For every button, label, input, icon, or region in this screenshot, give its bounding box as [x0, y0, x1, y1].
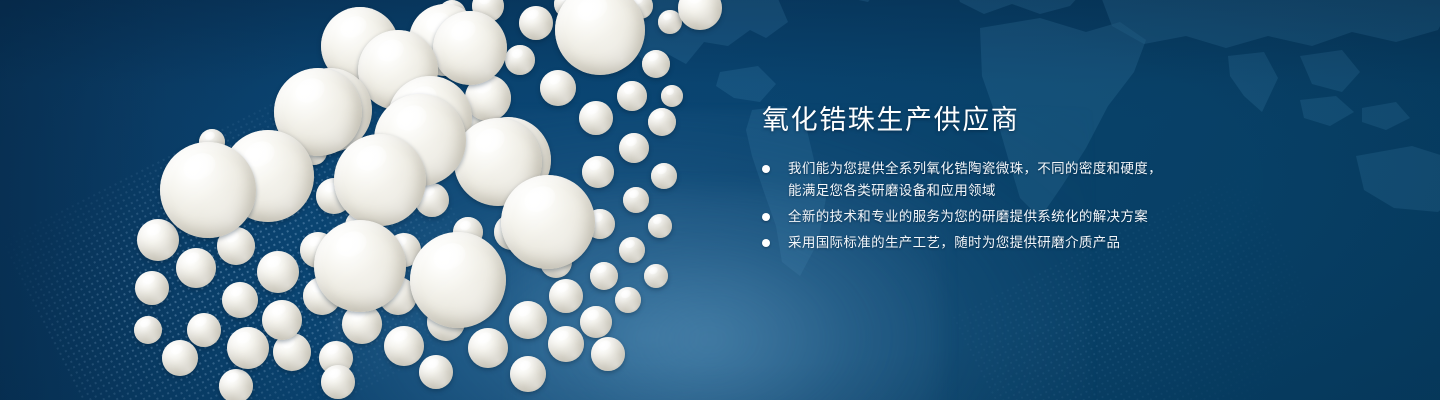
list-item: 全新的技术和专业的服务为您的研磨提供系统化的解决方案	[762, 206, 1282, 228]
ceramic-bead	[617, 81, 647, 111]
list-item: 采用国际标准的生产工艺，随时为您提供研磨介质产品	[762, 232, 1282, 254]
ceramic-bead	[619, 133, 649, 163]
ceramic-bead	[642, 50, 670, 78]
ceramic-bead	[510, 356, 546, 392]
ceramic-bead	[651, 163, 677, 189]
ceramic-bead	[501, 175, 595, 269]
ceramic-bead	[137, 219, 179, 261]
ceramic-bead	[619, 237, 645, 263]
bullet-text-line-1: 全新的技术和专业的服务为您的研磨提供系统化的解决方案	[788, 209, 1148, 224]
ceramic-bead	[678, 0, 722, 30]
product-banner: 氧化锆珠生产供应商 我们能为您提供全系列氧化锆陶瓷微珠，不同的密度和硬度， 能满…	[0, 0, 1440, 400]
ceramic-bead	[134, 316, 162, 344]
ceramic-bead	[162, 340, 198, 376]
ceramic-bead	[257, 251, 299, 293]
ceramic-bead	[419, 355, 453, 389]
ceramic-bead	[579, 101, 613, 135]
ceramic-bead	[582, 156, 614, 188]
ceramic-bead	[334, 134, 426, 226]
ceramic-bead	[540, 70, 576, 106]
ceramic-bead	[176, 248, 216, 288]
ceramic-bead	[410, 232, 506, 328]
bullet-text-line-2: 能满足您各类研磨设备和应用领域	[788, 180, 1282, 202]
bullet-text-line-1: 我们能为您提供全系列氧化锆陶瓷微珠，不同的密度和硬度，	[788, 161, 1162, 176]
ceramic-bead	[384, 326, 424, 366]
bullet-dot-icon	[762, 213, 770, 221]
ceramic-bead	[590, 262, 618, 290]
ceramic-bead	[548, 326, 584, 362]
ceramic-bead	[519, 6, 553, 40]
ceramic-bead	[135, 271, 169, 305]
ceramic-bead	[505, 45, 535, 75]
list-item: 我们能为您提供全系列氧化锆陶瓷微珠，不同的密度和硬度， 能满足您各类研磨设备和应…	[762, 158, 1282, 202]
ceramic-bead	[648, 108, 676, 136]
ceramic-bead	[615, 287, 641, 313]
bullet-dot-icon	[762, 239, 770, 247]
ceramic-bead	[321, 365, 355, 399]
ceramic-bead	[648, 214, 672, 238]
ceramic-bead	[580, 306, 612, 338]
feature-bullet-list: 我们能为您提供全系列氧化锆陶瓷微珠，不同的密度和硬度， 能满足您各类研磨设备和应…	[762, 158, 1282, 254]
ceramic-bead	[644, 264, 668, 288]
ceramic-bead	[187, 313, 221, 347]
ceramic-bead	[222, 282, 258, 318]
ceramic-bead	[160, 142, 256, 238]
ceramic-bead	[555, 0, 645, 75]
banner-text-column: 氧化锆珠生产供应商 我们能为您提供全系列氧化锆陶瓷微珠，不同的密度和硬度， 能满…	[762, 104, 1282, 254]
ceramic-bead	[219, 369, 253, 400]
ceramic-bead	[262, 300, 302, 340]
ceramic-bead	[661, 85, 683, 107]
ceramic-bead	[591, 337, 625, 371]
bullet-dot-icon	[762, 165, 770, 173]
ceramic-bead	[549, 279, 583, 313]
ceramic-bead	[623, 187, 649, 213]
ceramic-bead	[509, 301, 547, 339]
page-title: 氧化锆珠生产供应商	[762, 104, 1282, 136]
ceramic-bead	[468, 328, 508, 368]
ceramic-bead	[227, 327, 269, 369]
ceramic-bead	[433, 11, 507, 85]
bullet-text-line-1: 采用国际标准的生产工艺，随时为您提供研磨介质产品	[788, 235, 1120, 250]
ceramic-bead	[314, 220, 406, 312]
